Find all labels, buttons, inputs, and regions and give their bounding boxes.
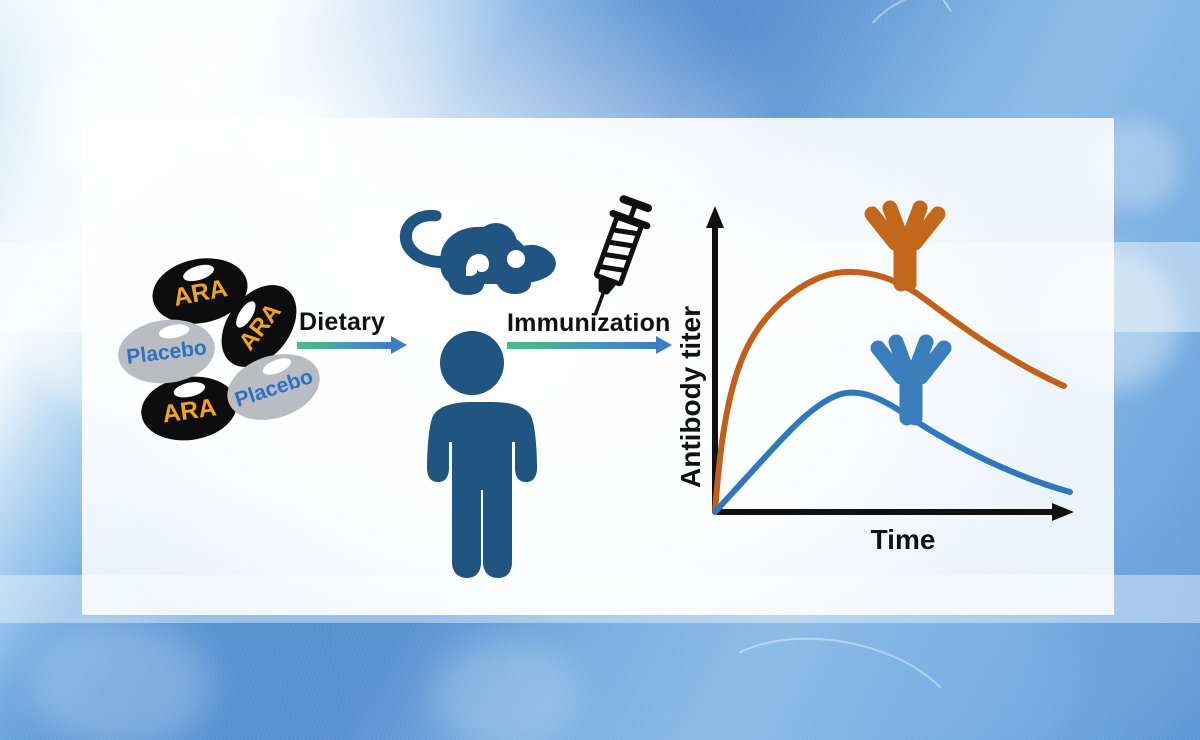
x-axis-label: Time [871,524,936,555]
arrow-shaft [507,342,658,349]
bokeh-circle [430,640,580,740]
y-axis-label: Antibody titer [675,306,706,488]
arrow-shaft [297,342,393,349]
bokeh-circle [148,25,208,85]
graphical-abstract: ARA ARA ARA Placebo Placebo Dietary [0,0,1200,740]
dietary-label: Dietary [299,308,385,337]
bokeh-circle [30,620,210,740]
x-axis [715,503,1074,521]
antibody-orange-icon [862,196,948,294]
antibody-blue-icon [868,330,954,428]
arrow-immunization [507,342,672,349]
syringe-icon [566,190,666,320]
arrow-head [391,336,407,354]
arrow-dietary [297,342,407,349]
human-figure-icon [412,330,532,580]
pill-placebo: Placebo [115,314,219,388]
mouse-icon [378,206,560,314]
